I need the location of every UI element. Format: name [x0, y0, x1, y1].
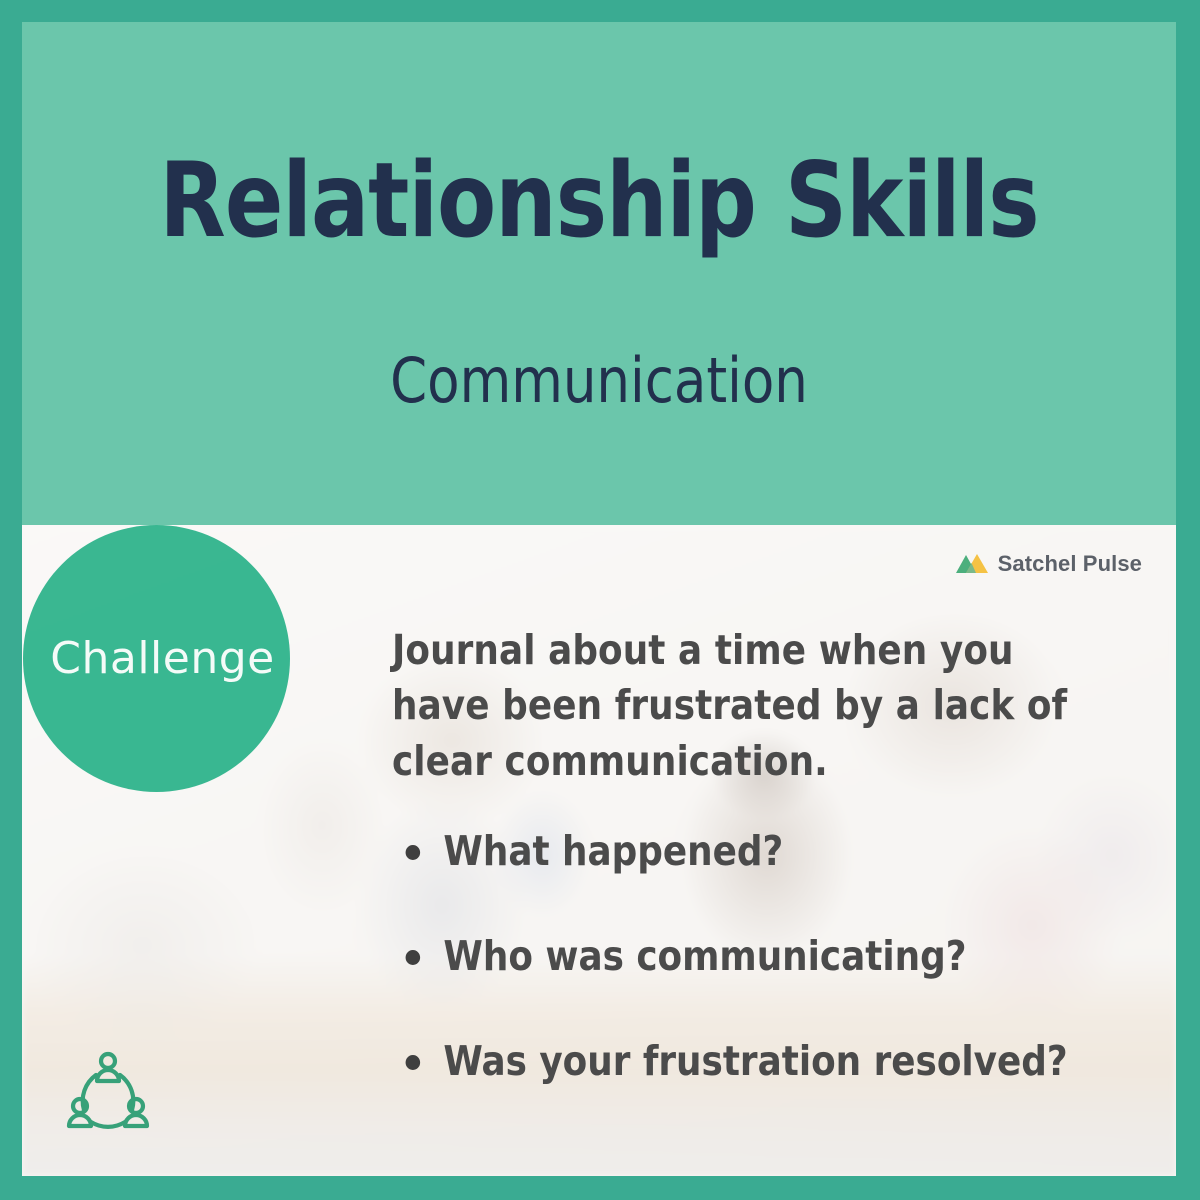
header-banner: Relationship Skills Communication: [22, 22, 1176, 525]
challenge-badge: Challenge: [23, 525, 290, 792]
slide-frame: Relationship Skills Communication Challe…: [0, 0, 1200, 1200]
challenge-prompt: Journal about a time when you have been …: [392, 623, 1094, 789]
logo-wordmark: Satchel Pulse: [998, 551, 1142, 577]
two-triangles-logo-icon: [955, 553, 989, 575]
list-item: Who was communicating?: [392, 934, 1094, 979]
list-item: What happened?: [392, 829, 1094, 874]
challenge-question-list: What happened? Who was communicating? Wa…: [392, 829, 1116, 1084]
list-item: Was your frustration resolved?: [392, 1039, 1094, 1084]
relationship-skills-three-people-icon: [58, 1044, 158, 1144]
challenge-badge-label: Challenge: [50, 633, 274, 684]
satchel-pulse-logo: Satchel Pulse: [955, 551, 1142, 577]
page-subtitle: Communication: [51, 350, 1147, 412]
page-title: Relationship Skills: [62, 150, 1135, 253]
challenge-content: Journal about a time when you have been …: [392, 623, 1116, 1084]
challenge-card: Challenge Satchel Pulse Journal about a …: [22, 525, 1176, 1176]
